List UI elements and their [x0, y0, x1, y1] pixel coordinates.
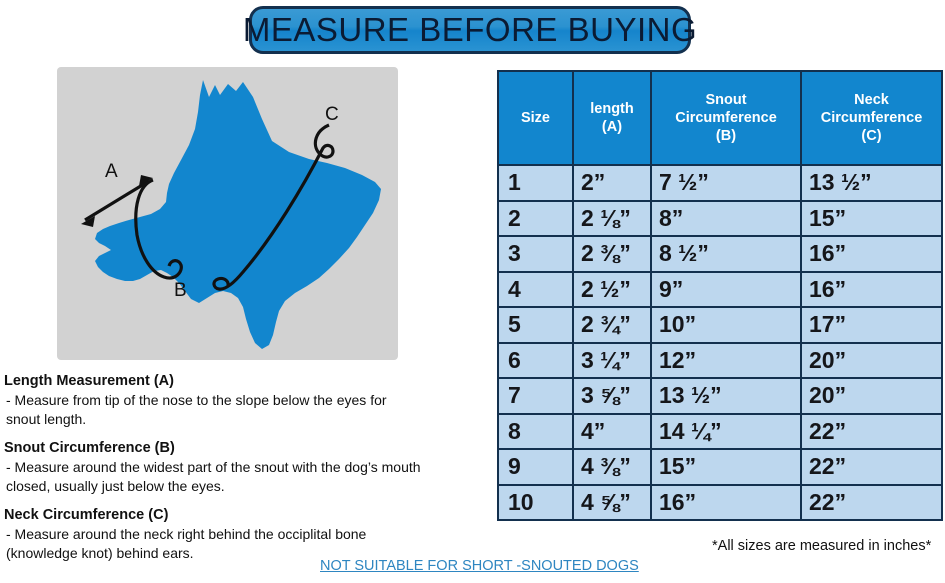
cell-neck-circumference: 20” [801, 378, 942, 414]
size-chart-table: Size length (A) Snout Circumference (B) … [497, 70, 943, 521]
table-row: 73 ⅝”13 ½”20” [498, 378, 942, 414]
cell-neck-circumference: 13 ½” [801, 165, 942, 201]
cell-length: 2” [573, 165, 651, 201]
cell-snout-circumference: 7 ½” [651, 165, 801, 201]
cell-length: 2 ⅜” [573, 236, 651, 272]
cell-neck-circumference: 22” [801, 414, 942, 450]
cell-neck-circumference: 16” [801, 272, 942, 308]
units-note: *All sizes are measured in inches* [712, 538, 931, 554]
cell-length: 3 ¼” [573, 343, 651, 379]
cell-size: 9 [498, 449, 573, 485]
table-row: 84”14 ¼”22” [498, 414, 942, 450]
measurement-instructions: Length Measurement (A) - Measure from ti… [4, 372, 484, 573]
cell-size: 7 [498, 378, 573, 414]
table-row: 12”7 ½”13 ½” [498, 165, 942, 201]
table-row: 42 ½”9”16” [498, 272, 942, 308]
table-row: 104 ⅝”16”22” [498, 485, 942, 521]
table-row: 94 ⅜”15”22” [498, 449, 942, 485]
cell-snout-circumference: 8” [651, 201, 801, 237]
table-row: 63 ¼”12”20” [498, 343, 942, 379]
cell-neck-circumference: 22” [801, 485, 942, 521]
cell-snout-circumference: 14 ¼” [651, 414, 801, 450]
table-row: 32 ⅜”8 ½”16” [498, 236, 942, 272]
cell-length: 3 ⅝” [573, 378, 651, 414]
instruction-group-snout: Snout Circumference (B) - Measure around… [4, 439, 484, 495]
instruction-heading: Neck Circumference (C) [4, 506, 484, 524]
cell-length: 2 ½” [573, 272, 651, 308]
instruction-body: - Measure around the neck right behind t… [4, 525, 484, 562]
table-row: 22 ⅛”8”15” [498, 201, 942, 237]
cell-length: 4” [573, 414, 651, 450]
column-header-size: Size [498, 71, 573, 165]
page-title: MEASURE BEFORE BUYING [243, 11, 697, 49]
table-row: 52 ¾”10”17” [498, 307, 942, 343]
cell-neck-circumference: 20” [801, 343, 942, 379]
cell-size: 2 [498, 201, 573, 237]
cell-size: 3 [498, 236, 573, 272]
cell-snout-circumference: 16” [651, 485, 801, 521]
cell-size: 4 [498, 272, 573, 308]
cell-snout-circumference: 15” [651, 449, 801, 485]
cell-neck-circumference: 22” [801, 449, 942, 485]
cell-length: 2 ⅛” [573, 201, 651, 237]
instruction-body: - Measure around the widest part of the … [4, 458, 484, 495]
cell-neck-circumference: 17” [801, 307, 942, 343]
cell-size: 5 [498, 307, 573, 343]
cell-snout-circumference: 9” [651, 272, 801, 308]
instruction-heading: Snout Circumference (B) [4, 439, 484, 457]
cell-length: 2 ¾” [573, 307, 651, 343]
cell-length: 4 ⅝” [573, 485, 651, 521]
dog-illustration-panel: A B C [57, 67, 398, 360]
instruction-group-length: Length Measurement (A) - Measure from ti… [4, 372, 484, 428]
table-header-row: Size length (A) Snout Circumference (B) … [498, 71, 942, 165]
instruction-heading: Length Measurement (A) [4, 372, 484, 390]
marker-c-label: C [325, 104, 339, 125]
cell-size: 8 [498, 414, 573, 450]
instruction-body: - Measure from tip of the nose to the sl… [4, 391, 484, 428]
cell-neck-circumference: 16” [801, 236, 942, 272]
cell-size: 1 [498, 165, 573, 201]
marker-a-label: A [105, 161, 118, 182]
cell-size: 10 [498, 485, 573, 521]
column-header-snout-circumference: Snout Circumference (B) [651, 71, 801, 165]
cell-neck-circumference: 15” [801, 201, 942, 237]
column-header-neck-circumference: Neck Circumference (C) [801, 71, 942, 165]
title-banner: MEASURE BEFORE BUYING [249, 6, 691, 54]
not-suitable-note: NOT SUITABLE FOR SHORT -SNOUTED DOGS [320, 558, 639, 574]
column-header-length: length (A) [573, 71, 651, 165]
cell-length: 4 ⅜” [573, 449, 651, 485]
cell-size: 6 [498, 343, 573, 379]
cell-snout-circumference: 13 ½” [651, 378, 801, 414]
cell-snout-circumference: 8 ½” [651, 236, 801, 272]
cell-snout-circumference: 10” [651, 307, 801, 343]
cell-snout-circumference: 12” [651, 343, 801, 379]
dog-head-diagram: A B C [57, 67, 398, 360]
instruction-group-neck: Neck Circumference (C) - Measure around … [4, 506, 484, 562]
marker-b-label: B [174, 280, 187, 301]
